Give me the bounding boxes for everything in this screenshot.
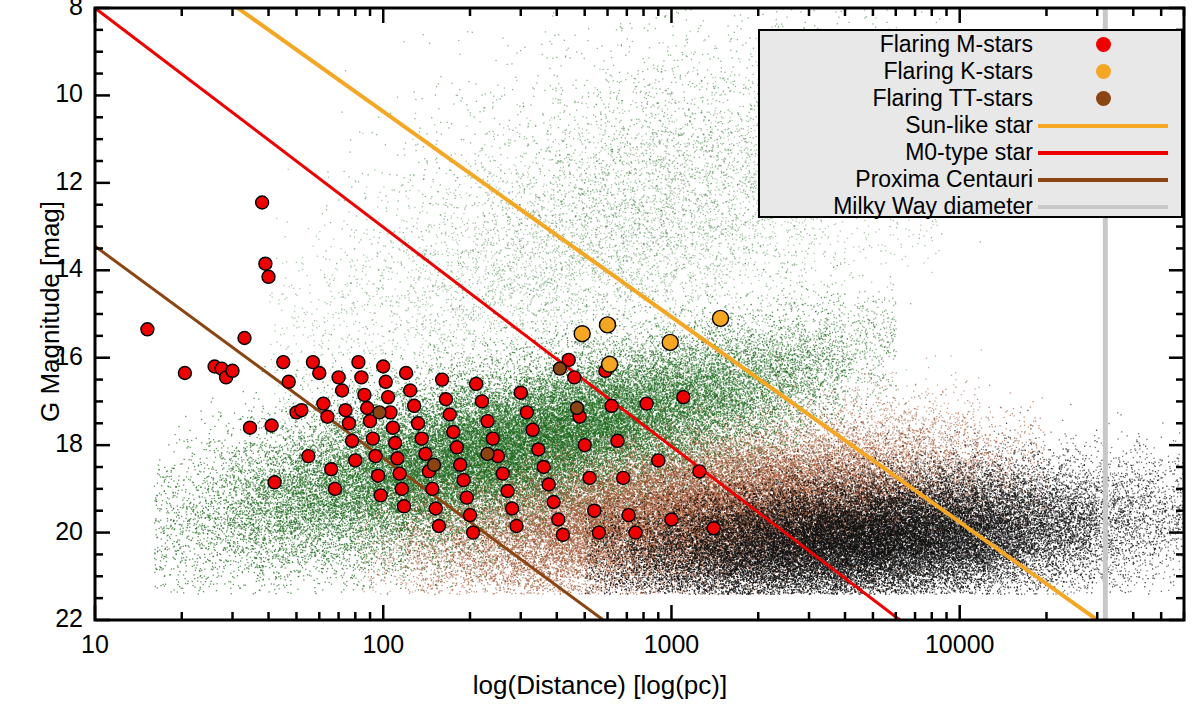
legend-entry: Flaring M-stars <box>760 31 1181 58</box>
legend-entry: Flaring K-stars <box>760 58 1181 85</box>
y-tick-label: 12 <box>0 167 83 196</box>
legend-marker-line-icon <box>1038 151 1168 155</box>
y-tick-label: 22 <box>0 604 83 633</box>
legend-entry-label: Sun-like star <box>905 114 1033 137</box>
legend-entry: M0-type star <box>760 139 1181 166</box>
legend-entry-label: Milky Way diameter <box>833 195 1033 218</box>
x-tick-label: 10000 <box>900 630 1020 659</box>
y-tick-label: 10 <box>0 79 83 108</box>
y-tick-label: 20 <box>0 517 83 546</box>
x-axis-title: log(Distance) [log(pc)] <box>0 670 1200 701</box>
y-tick-label: 16 <box>0 342 83 371</box>
y-tick-label: 18 <box>0 429 83 458</box>
legend-marker-line-icon <box>1038 205 1168 209</box>
scatter-plot-figure: G Magnitude [mag] log(Distance) [log(pc)… <box>0 0 1200 708</box>
y-tick-label: 8 <box>0 0 83 21</box>
legend-marker-line-icon <box>1038 124 1168 128</box>
y-tick-label: 14 <box>0 254 83 283</box>
x-tick-label: 100 <box>323 630 443 659</box>
legend-entry-label: Flaring M-stars <box>880 33 1033 56</box>
legend-entry-label: Proxima Centauri <box>855 168 1033 191</box>
legend-entry-label: M0-type star <box>905 141 1033 164</box>
x-tick-label: 10 <box>35 630 155 659</box>
legend-entry: Milky Way diameter <box>760 193 1181 220</box>
x-tick-label: 1000 <box>611 630 731 659</box>
legend-entry: Proxima Centauri <box>760 166 1181 193</box>
legend-entry-label: Flaring K-stars <box>883 60 1033 83</box>
legend-marker-dot-icon <box>1096 64 1111 79</box>
legend-marker-dot-icon <box>1096 91 1111 106</box>
legend-marker-dot-icon <box>1096 37 1111 52</box>
legend-entry-label: Flaring TT-stars <box>872 87 1033 110</box>
legend-entry: Sun-like star <box>760 112 1181 139</box>
legend-marker-line-icon <box>1038 178 1168 182</box>
legend: Flaring M-starsFlaring K-starsFlaring TT… <box>758 29 1183 218</box>
legend-entry: Flaring TT-stars <box>760 85 1181 112</box>
